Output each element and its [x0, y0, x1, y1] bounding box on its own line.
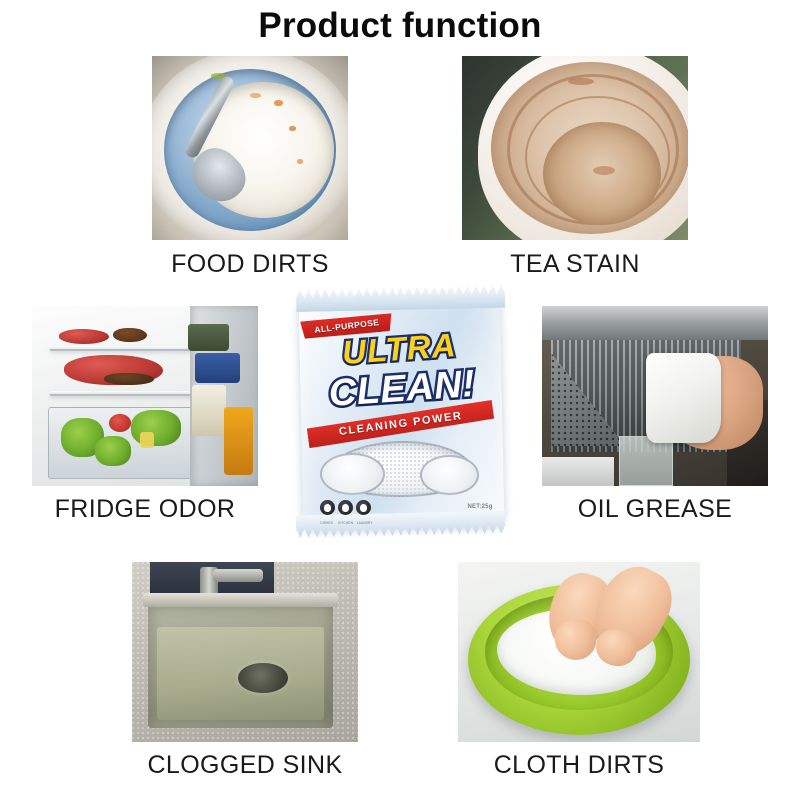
product-feature-icons: [320, 500, 371, 515]
food-residue-spot: [297, 159, 303, 164]
meat-topping: [104, 373, 154, 386]
counter-surface: [542, 457, 614, 486]
food-dirts-image: [152, 56, 348, 240]
product-package: ALL-PURPOSE ULTRA CLEAN! CLEANING POWER …: [292, 284, 510, 538]
photo-food-dirts: [152, 56, 348, 240]
door-bottle: [188, 324, 229, 351]
icon-label-kitchen: KITCHEN: [337, 521, 354, 525]
drain-hole: [238, 663, 288, 694]
clogged-sink-image: [132, 562, 358, 742]
caption-tea-stain: TEA STAIN: [462, 250, 688, 279]
caption-oil-grease: OIL GREASE: [542, 495, 768, 524]
sachet-top-seal: [296, 284, 506, 311]
faucet-spout: [213, 569, 263, 582]
sink-rim: [143, 593, 337, 607]
cheese-item: [140, 432, 154, 448]
caption-food-dirts: FOOD DIRTS: [152, 250, 348, 279]
vegetable-item: [95, 436, 131, 467]
infographic-canvas: Product function FOOD DIRTS TEA STAIN: [0, 0, 800, 800]
product-icon-labels: DISHES KITCHEN LAUNDRY: [318, 521, 373, 525]
photo-oil-grease: [542, 306, 768, 486]
vegetable-item: [131, 410, 181, 446]
caption-cloth-dirts: CLOTH DIRTS: [458, 751, 700, 780]
photo-cloth-dirts: [458, 562, 700, 742]
droplet-icon: [356, 500, 371, 515]
oil-grease-image: [542, 306, 768, 486]
caption-clogged-sink: CLOGGED SINK: [132, 751, 358, 780]
photo-tea-stain: [462, 56, 688, 240]
cloth-dirts-image: [458, 562, 700, 742]
cleaning-cloth: [646, 353, 721, 443]
tea-stain-image: [462, 56, 688, 240]
raw-meat-item: [59, 329, 109, 343]
door-bottle: [224, 407, 253, 475]
icon-label-dishes: DISHES: [318, 521, 335, 525]
fridge-odor-image: [32, 306, 258, 486]
bowl-icon: [320, 500, 335, 515]
glass-jar: [619, 436, 673, 486]
photo-fridge-odor: [32, 306, 258, 486]
page-title: Product function: [0, 6, 800, 46]
fridge-shelf: [50, 391, 197, 396]
door-bottle: [192, 385, 226, 435]
icon-label-laundry: LAUNDRY: [356, 521, 373, 525]
raw-meat-item: [113, 328, 147, 342]
pan-icon: [338, 500, 353, 515]
range-hood-top: [542, 306, 768, 340]
net-weight-label: NET:25g: [467, 504, 492, 510]
photo-clogged-sink: [132, 562, 358, 742]
caption-fridge-odor: FRIDGE ODOR: [32, 495, 258, 524]
fridge-shelf: [50, 346, 197, 351]
door-bottle: [195, 353, 240, 384]
